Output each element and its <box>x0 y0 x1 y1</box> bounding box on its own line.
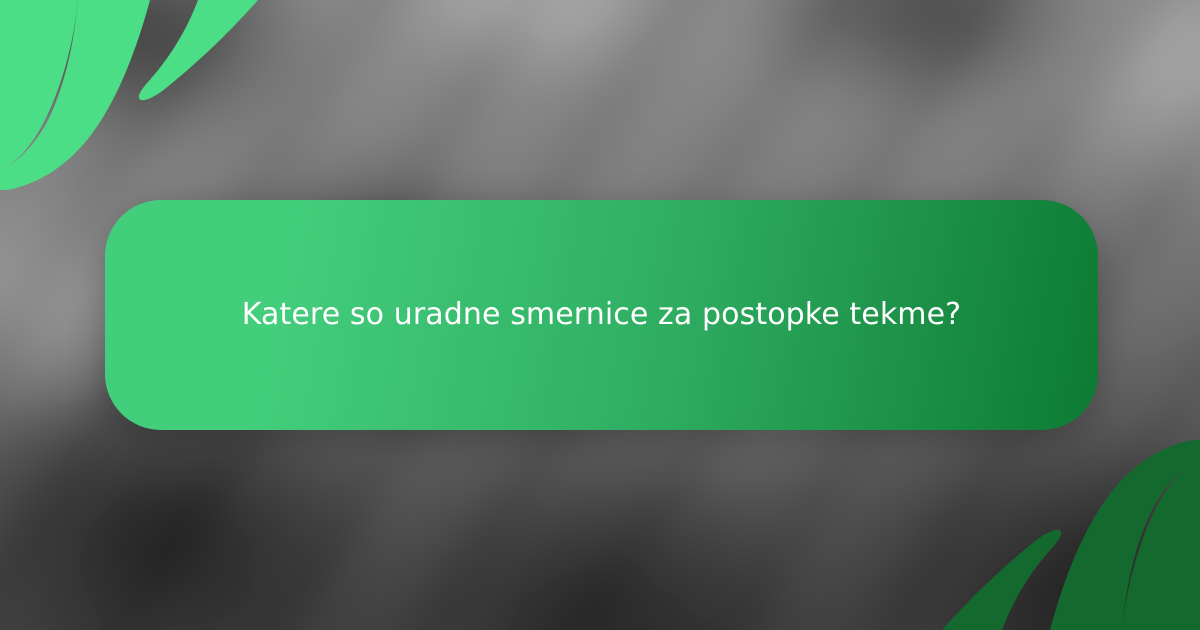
question-text: Katere so uradne smernice za postopke te… <box>201 289 1002 341</box>
question-card: Katere so uradne smernice za postopke te… <box>105 200 1098 430</box>
screenshot-root: Katere so uradne smernice za postopke te… <box>0 0 1200 630</box>
